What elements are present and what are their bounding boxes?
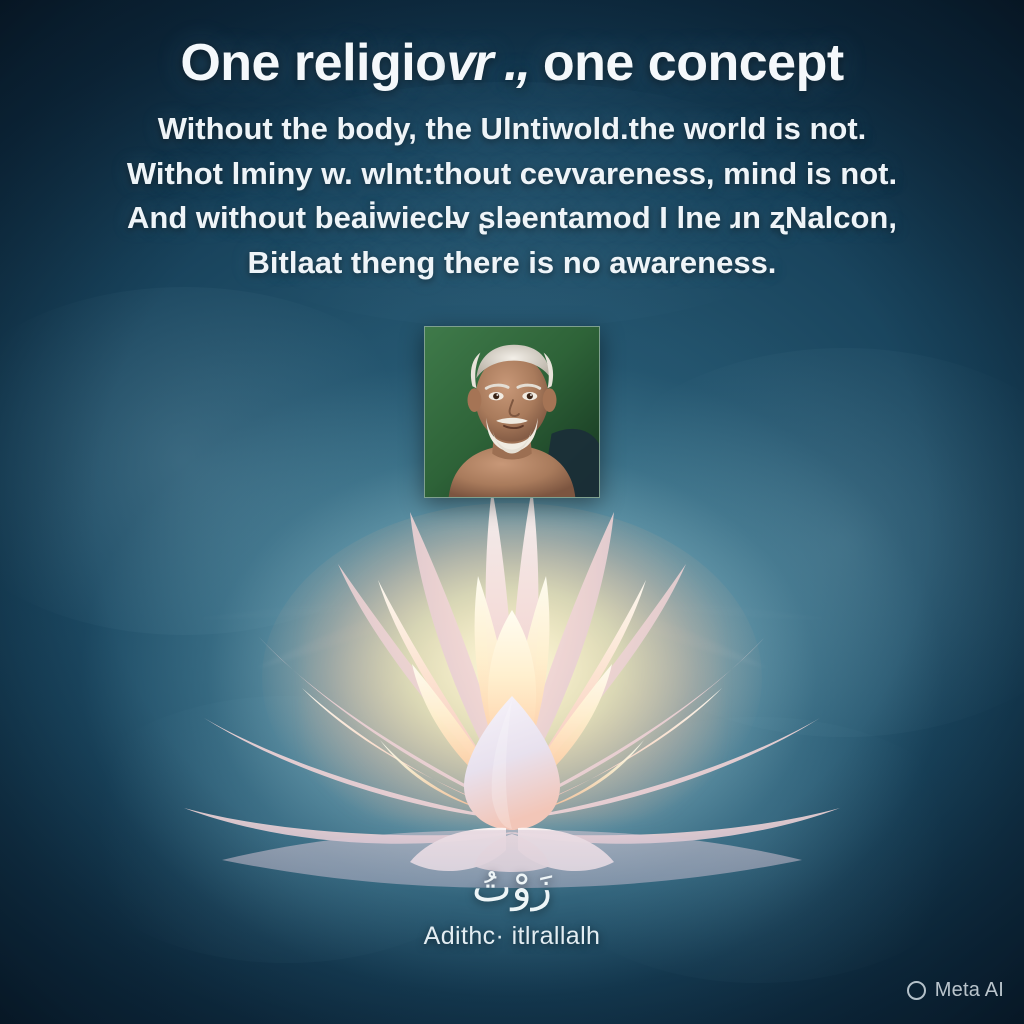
meta-ring-icon [907, 981, 926, 1000]
quote-line-3: And without beai̇wiecl̵v ʂləentamod I ln… [34, 196, 990, 241]
headline-part-plain: One religio [180, 34, 446, 92]
quote-line-2: Withot lminy w. wInt:thout cevvareness, … [34, 152, 990, 197]
signature-block: زَوْتُ Adithc· itlrallalh [0, 866, 1024, 951]
headline-part-tail: one concept [529, 34, 844, 92]
meta-ai-watermark: Meta AI [907, 979, 1004, 1002]
meta-ai-label: Meta AI [935, 979, 1004, 1002]
quote-line-4: Bitlaat theng there is no awareness. [34, 241, 990, 286]
signature-script: زَوْتُ [0, 866, 1024, 908]
quote-lines: Without the body, the Ulntiwold.the worl… [34, 107, 990, 286]
signature-name: Adithc· itlrallalh [0, 922, 1024, 951]
lotus-flower [162, 468, 862, 898]
poster-canvas: One religiovr ., one concept Without the… [0, 0, 1024, 1024]
portrait-photo [424, 326, 600, 498]
headline-part-garbled: vr ., [446, 34, 529, 92]
headline: One religiovr ., one concept [34, 36, 990, 91]
quote-block: One religiovr ., one concept Without the… [0, 36, 1024, 286]
quote-line-1: Without the body, the Ulntiwold.the worl… [34, 107, 990, 152]
